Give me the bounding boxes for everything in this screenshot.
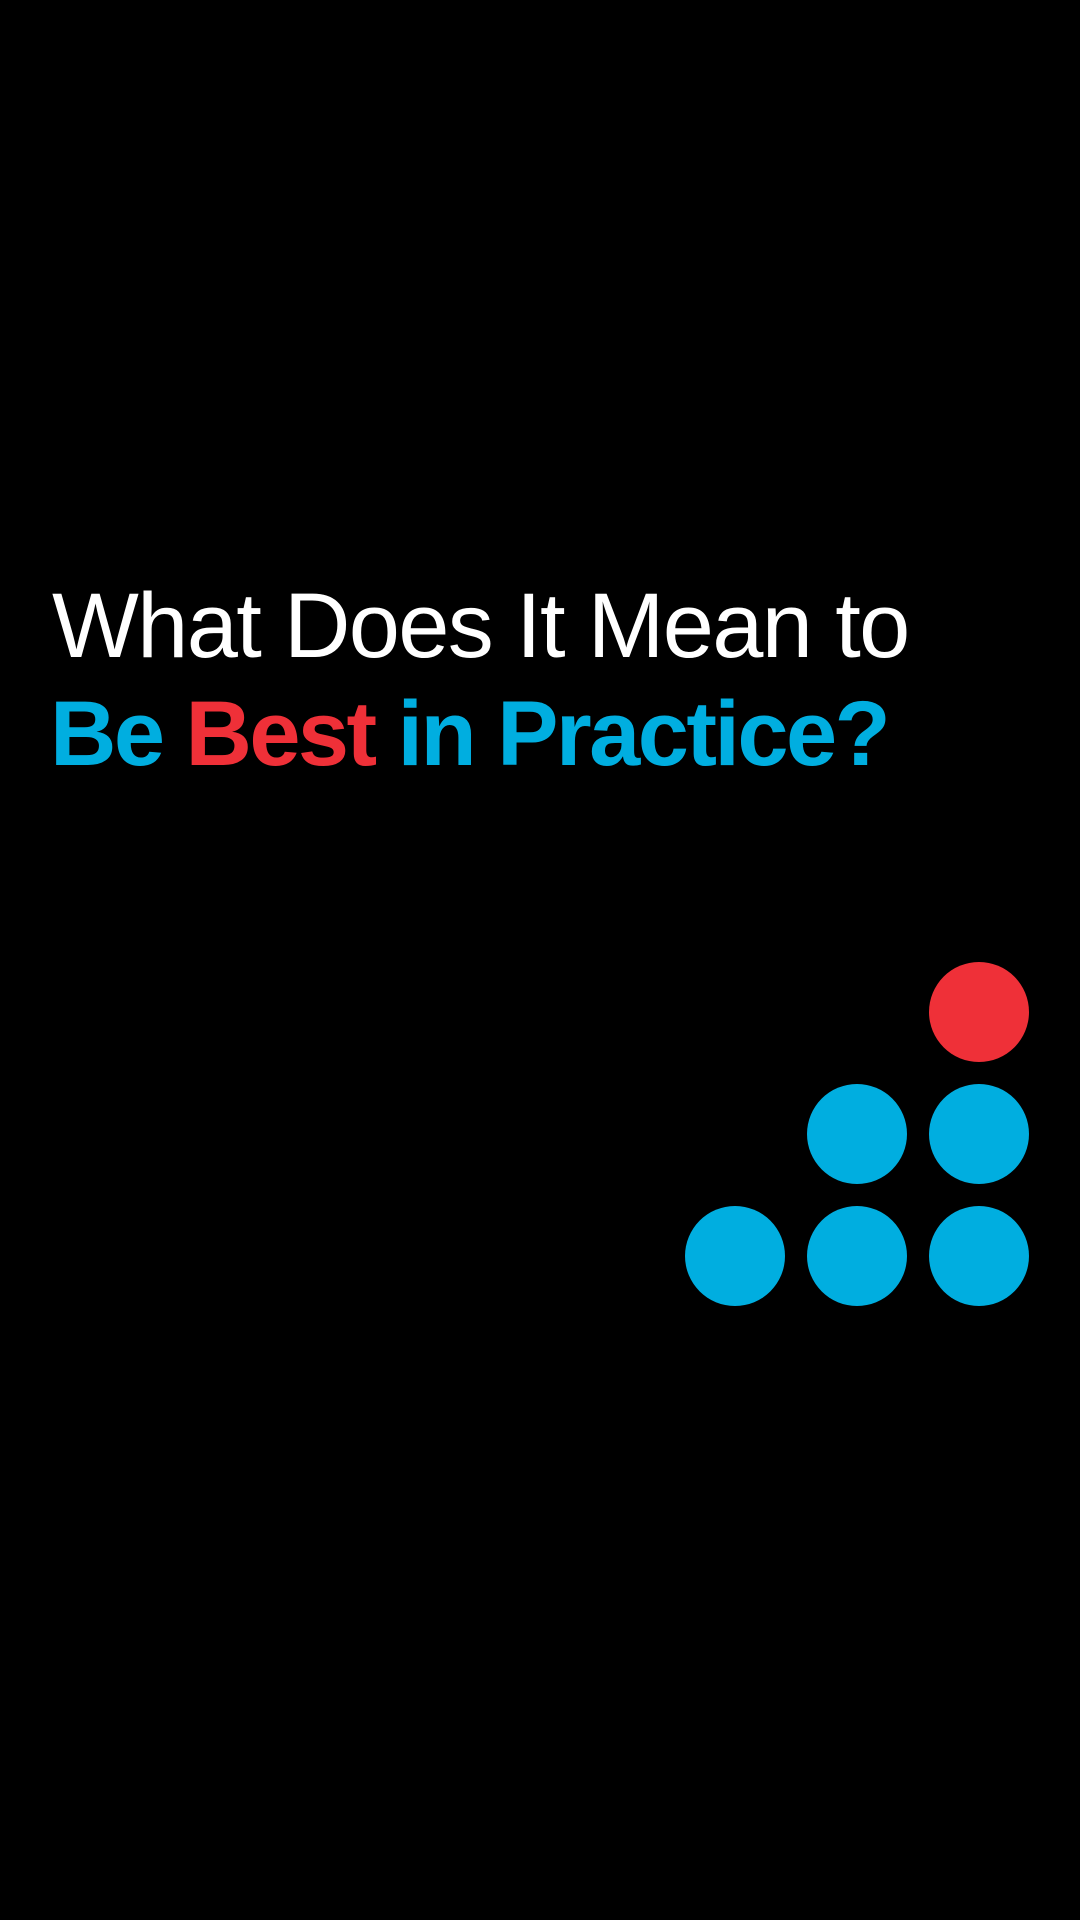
logo-dot-red-top (929, 962, 1029, 1062)
page-title: What Does It Mean to Be Best in Practice… (50, 580, 1040, 780)
logo-dot-blue-bottom-right (929, 1206, 1029, 1306)
title-segment-best: Best (185, 683, 374, 785)
title-segment-in-practice: in Practice? (375, 683, 889, 785)
logo-dot-blue-mid-right (929, 1084, 1029, 1184)
title-line-1: What Does It Mean to (50, 580, 1040, 672)
title-line-2: Be Best in Practice? (50, 688, 1040, 780)
logo-dot-blue-bottom-left (685, 1206, 785, 1306)
title-segment-be: Be (50, 683, 185, 785)
title-card: What Does It Mean to Be Best in Practice… (0, 0, 1080, 1920)
staircase-dots-logo (685, 962, 1030, 1307)
logo-dot-blue-bottom-mid (807, 1206, 907, 1306)
logo-dot-blue-mid-left (807, 1084, 907, 1184)
